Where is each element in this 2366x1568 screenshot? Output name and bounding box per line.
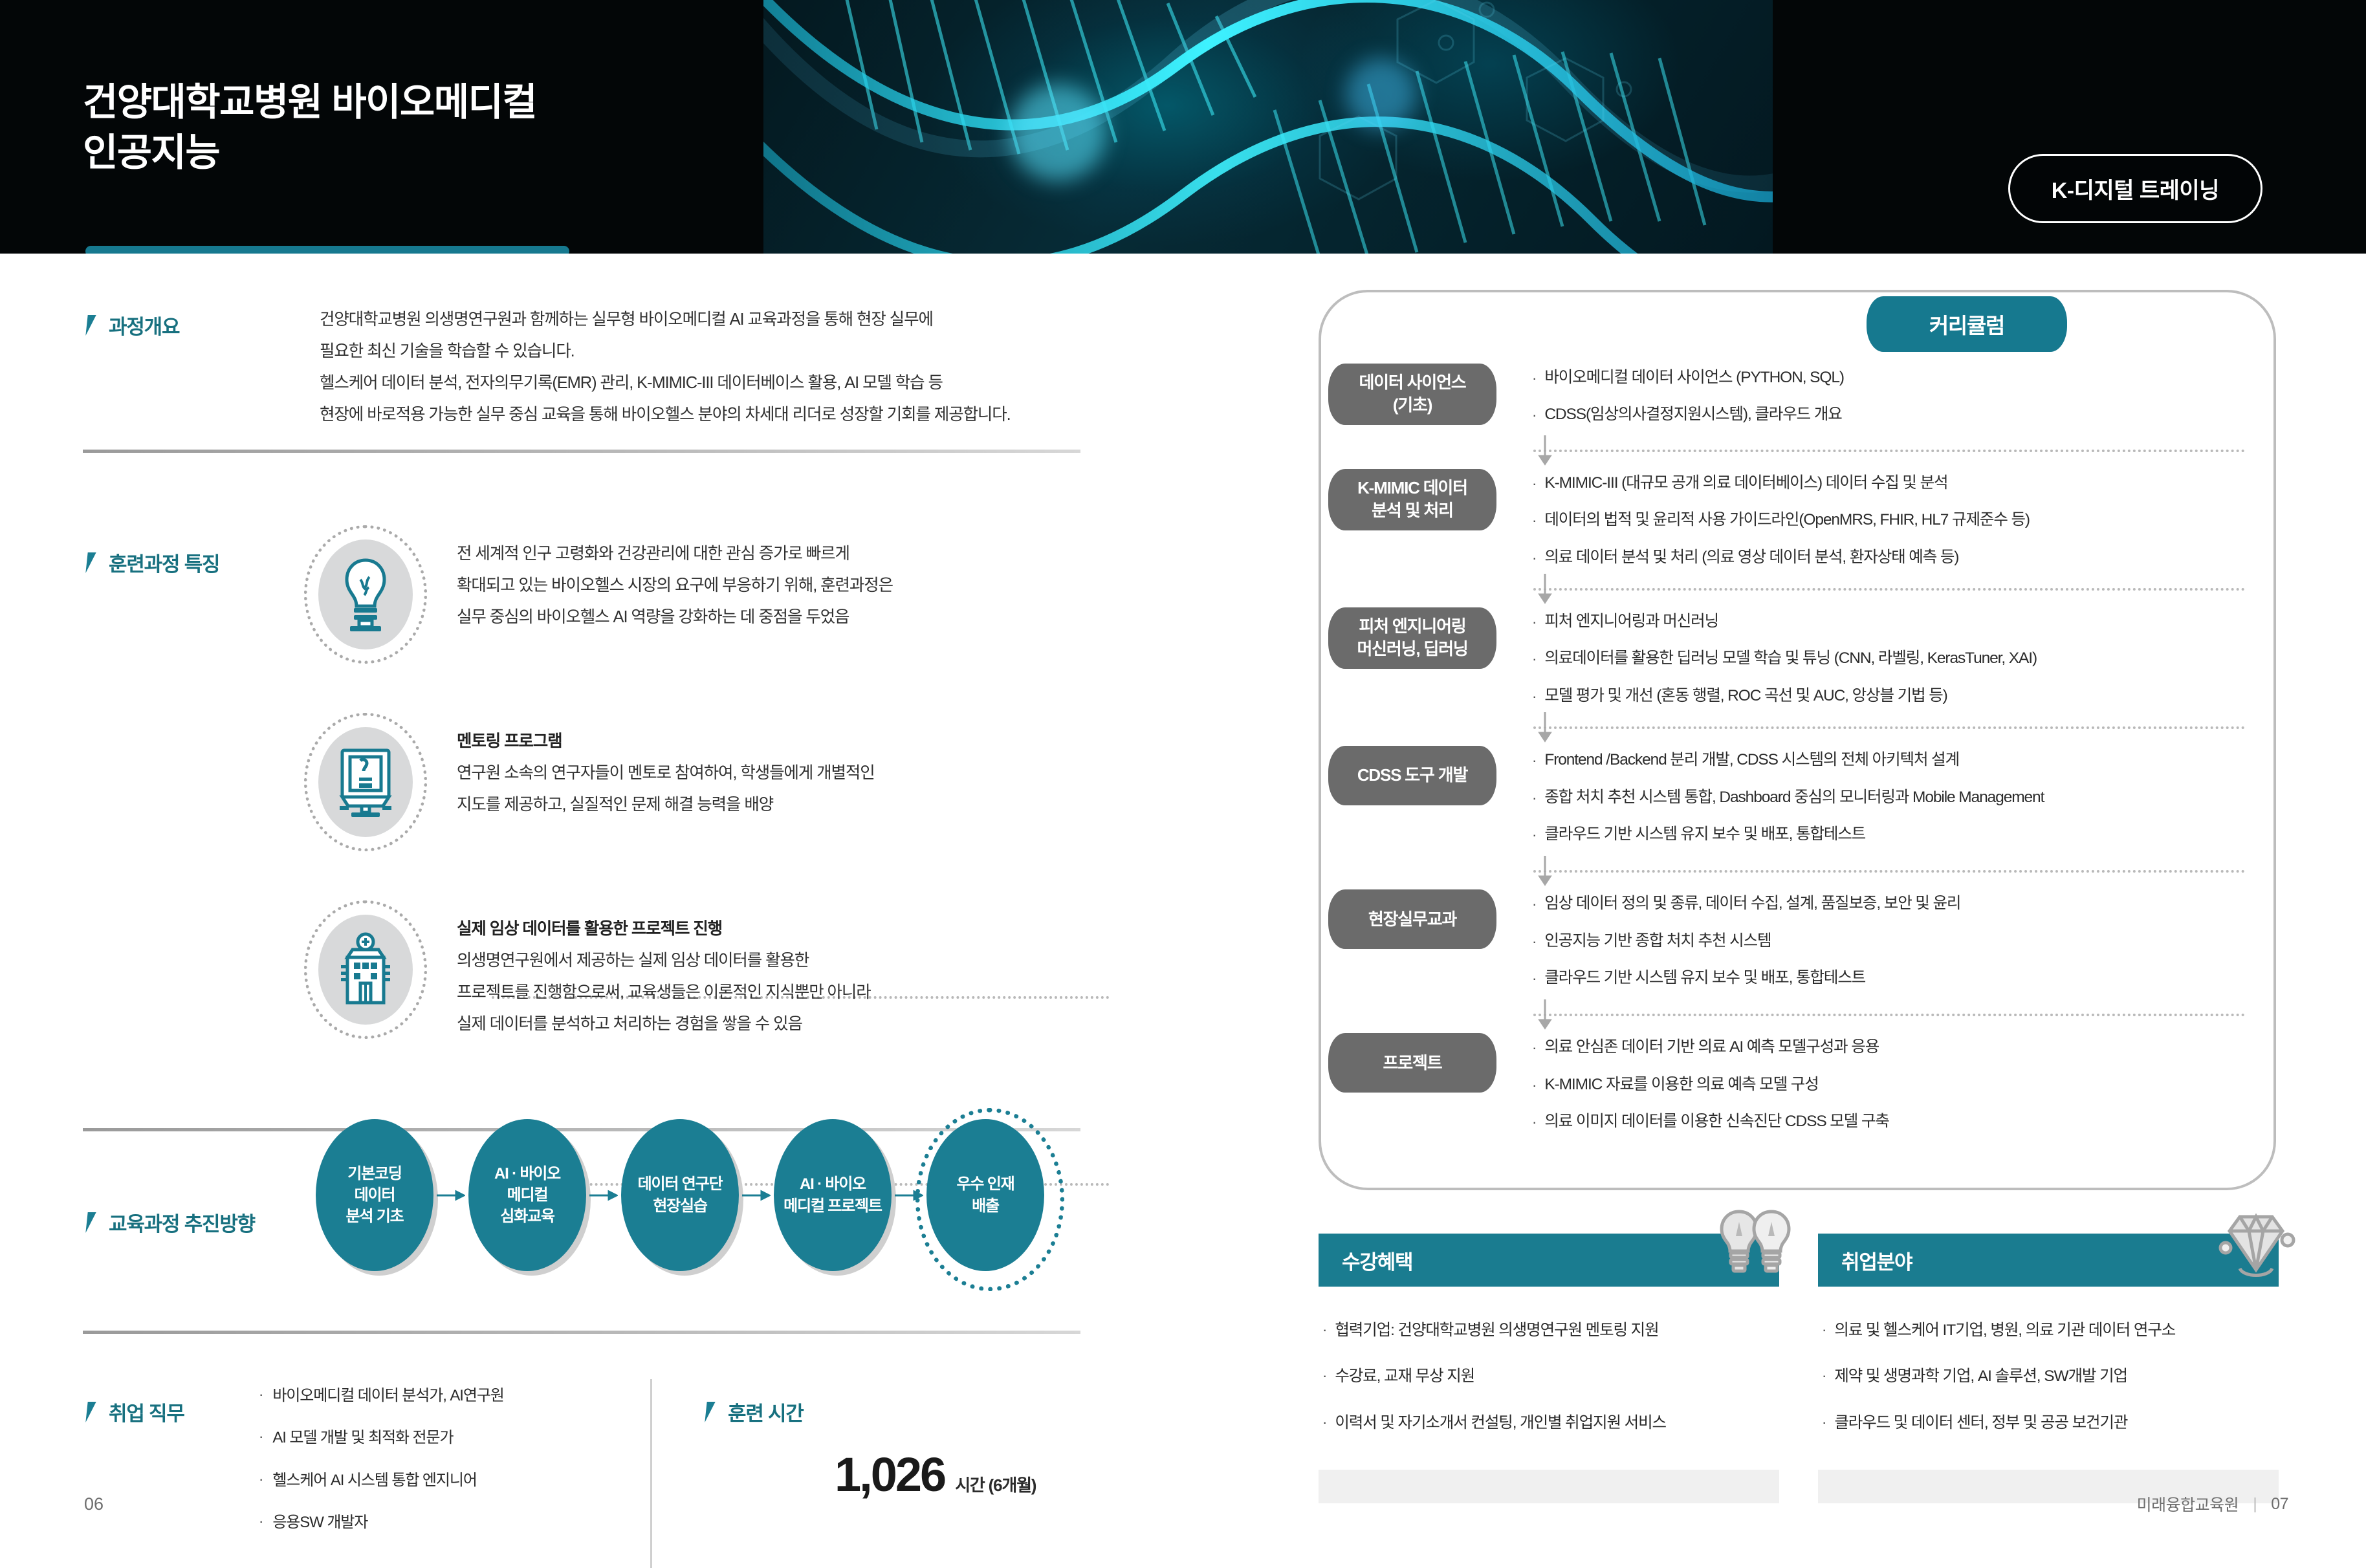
list-item: ·데이터의 법적 및 윤리적 사용 가이드라인(OpenMRS, FHIR, H… [1532,508,2276,532]
hours-heading-label: 훈련 시간 [728,1397,804,1426]
section-marker-icon [83,1399,100,1425]
overview-line: 현장에 바로적용 가능한 실무 중심 교육을 통해 바이오헬스 분야의 차세대 … [320,399,1115,431]
list-item: ·의료 데이터 분석 및 처리 (의료 영상 데이터 분석, 환자상태 예측 등… [1532,546,2276,570]
curriculum-items: ·Frontend /Backend 분리 개발, CDSS 시스템의 전체 아… [1506,746,2276,860]
node-line: K-MIMIC 데이터 [1357,477,1467,499]
flow-arrow-icon [1537,712,1553,746]
list-item: ·응용SW 개발자 [259,1509,634,1533]
title-line-1: 건양대학교병원 바이오메디컬 [83,78,536,128]
title-line-2: 인공지능 [83,128,536,179]
curriculum-node-col: 피처 엔지니어링 머신러닝, 딥러닝 [1319,607,1506,669]
benefit-card-header: 수강혜택 [1319,1234,1779,1287]
flow-arrow-icon [586,1189,621,1202]
feature-title: 멘토링 프로그램 [457,726,875,757]
benefit-card-body: ·협력기업: 건양대학교병원 의생명연구원 멘토링 지원 ·수강료, 교재 무상… [1319,1287,1779,1434]
curriculum-node: 데이터 사이언스 (기초) [1328,364,1496,425]
list-item: ·바이오메디컬 데이터 사이언스 (PYTHON, SQL) [1532,366,2276,390]
bullet-icon: · [1532,930,1537,953]
bullet-icon: · [1532,892,1537,916]
field-item-label: 제약 및 생명과학 기업, AI 솔루션, SW개발 기업 [1834,1364,2127,1388]
list-item: ·클라우드 기반 시스템 유지 보수 및 배포, 통합테스트 [1532,966,2276,990]
field-card-header: 취업분야 [1818,1234,2279,1287]
bullet-icon: · [1532,823,1537,847]
bullet-icon: · [1532,748,1537,772]
list-item: ·임상 데이터 정의 및 종류, 데이터 수집, 설계, 품질보증, 보안 및 … [1532,892,2276,916]
field-card-body: ·의료 및 헬스케어 IT기업, 병원, 의료 기관 데이터 연구소 ·제약 및… [1818,1287,2279,1434]
field-card-title: 취업분야 [1841,1246,1912,1275]
curriculum-item-label: 피처 엔지니어링과 머신러닝 [1544,610,1718,634]
feature-item: 실제 임상 데이터를 활용한 프로젝트 진행 의생명연구원에서 제공하는 실제 … [304,908,1113,1040]
curriculum-node: 프로젝트 [1328,1033,1496,1093]
list-item: ·의료 이미지 데이터를 이용한 신속진단 CDSS 모델 구축 [1532,1110,2276,1134]
feature-text: 전 세계적 인구 고령화와 건강관리에 대한 관심 증가로 빠르게 확대되고 있… [457,533,893,633]
bullet-icon: · [1532,366,1537,390]
feature-line: 연구원 소속의 연구자들이 멘토로 참여하여, 학생들에게 개별적인 [457,757,875,789]
list-item: ·의료 및 헬스케어 IT기업, 병원, 의료 기관 데이터 연구소 [1822,1318,2279,1342]
node-line: 분석 및 처리 [1357,499,1467,522]
overview-heading-label: 과정개요 [109,310,179,340]
curriculum-node-col: 데이터 사이언스 (기초) [1319,364,1506,425]
kdt-badge: K-디지털 트레이닝 [2008,154,2262,223]
feature-item: 멘토링 프로그램 연구원 소속의 연구자들이 멘토로 참여하여, 학생들에게 개… [304,721,1113,844]
bullet-icon: · [259,1424,263,1448]
bullet-icon: · [1532,508,1537,532]
feature-item: 전 세계적 인구 고령화와 건강관리에 대한 관심 증가로 빠르게 확대되고 있… [304,533,1113,656]
flow-step: 데이터 연구단 현장실습 [621,1119,739,1271]
bullet-icon: · [259,1509,263,1533]
curriculum-item-label: 의료 데이터 분석 및 처리 (의료 영상 데이터 분석, 환자상태 예측 등) [1544,546,1958,570]
curriculum-items: ·피처 엔지니어링과 머신러닝 ·의료데이터를 활용한 딥러닝 모델 학습 및 … [1506,607,2276,721]
list-item: ·인공지능 기반 종합 처치 추천 시스템 [1532,930,2276,953]
flow-step-line: 현장실습 [653,1195,707,1217]
flow-step-line: 데이터 [355,1184,395,1206]
list-item: ·K-MIMIC-III (대규모 공개 의료 데이터베이스) 데이터 수집 및… [1532,472,2276,495]
list-item: ·의료 안심존 데이터 기반 의료 AI 예측 모델구성과 응용 [1532,1036,2276,1060]
divider [83,1331,1080,1334]
node-line: 피처 엔지니어링 [1357,615,1467,638]
overview-line: 필요한 최신 기술을 학습할 수 있습니다. [320,336,1115,367]
flow-step-line: 배출 [972,1195,999,1217]
flow-step-line: AI · 바이오 [494,1163,560,1184]
curriculum-item-label: 임상 데이터 정의 및 종류, 데이터 수집, 설계, 품질보증, 보안 및 윤… [1544,892,1960,916]
diamond-icon [2210,1197,2302,1289]
divider [83,450,1080,453]
curriculum-item-label: K-MIMIC-III (대규모 공개 의료 데이터베이스) 데이터 수집 및 … [1544,472,1947,495]
flow-arrow-icon [1537,435,1553,469]
benefit-item-label: 수강료, 교재 무상 지원 [1335,1364,1474,1388]
bullet-icon: · [1532,403,1537,427]
list-item: ·모델 평가 및 개선 (혼동 행렬, ROC 곡선 및 AUC, 앙상블 기법… [1532,684,2276,708]
curriculum-row: CDSS 도구 개발 ·Frontend /Backend 분리 개발, CDS… [1319,746,2276,860]
curriculum-item-label: 의료 안심존 데이터 기반 의료 AI 예측 모델구성과 응용 [1544,1036,1879,1060]
page-footer-right: 미래융합교육원 | 07 [2137,1492,2288,1516]
feature-title: 실제 임상 데이터를 활용한 프로젝트 진행 [457,913,871,945]
jobs-heading-label: 취업 직무 [109,1397,184,1426]
flow-step-line: 메디컬 [507,1184,548,1206]
job-label: AI 모델 개발 및 최적화 전문가 [272,1424,453,1448]
section-jobs-heading: 취업 직무 [83,1397,184,1426]
overview-line: 건양대학교병원 의생명연구원과 함께하는 실무형 바이오메디컬 AI 교육과정을… [320,304,1115,336]
page-title: 건양대학교병원 바이오메디컬 인공지능 [83,78,536,179]
job-label: 헬스케어 AI 시스템 통합 엔지니어 [272,1467,477,1491]
feature-line: 실제 데이터를 분석하고 처리하는 경험을 쌓을 수 있음 [457,1008,871,1040]
bullet-icon: · [1532,546,1537,570]
curriculum-row: 데이터 사이언스 (기초) ·바이오메디컬 데이터 사이언스 (PYTHON, … [1319,364,2276,441]
bullet-icon: · [1532,610,1537,634]
bullet-icon: · [1532,1073,1537,1097]
curriculum-rows: 데이터 사이언스 (기초) ·바이오메디컬 데이터 사이언스 (PYTHON, … [1319,364,2276,1148]
section-marker-icon [83,312,100,338]
curriculum-tab-label: 커리큘럼 [1867,296,2067,352]
list-item: ·의료데이터를 활용한 딥러닝 모델 학습 및 튜닝 (CNN, 라벨링, Ke… [1532,647,2276,671]
bullet-icon: · [1532,966,1537,990]
node-line: 현장실무교과 [1368,908,1456,931]
list-item: ·AI 모델 개발 및 최적화 전문가 [259,1424,634,1448]
curriculum-item-label: 의료데이터를 활용한 딥러닝 모델 학습 및 튜닝 (CNN, 라벨링, Ker… [1544,647,2037,671]
section-marker-icon [83,550,100,576]
section-direction-heading: 교육과정 추진방향 [83,1208,255,1237]
curriculum-node-col: K-MIMIC 데이터 분석 및 처리 [1319,469,1506,530]
field-item-label: 클라우드 및 데이터 센터, 정부 및 공공 보건기관 [1834,1410,2127,1434]
curriculum-row: 프로젝트 ·의료 안심존 데이터 기반 의료 AI 예측 모델구성과 응용 ·K… [1319,1033,2276,1147]
flow-arrow-icon [1537,999,1553,1033]
section-marker-icon [702,1399,719,1425]
hours-value-group: 1,026 시간 (6개월) [835,1447,1036,1502]
bullet-icon: · [259,1467,263,1491]
feature-text: 실제 임상 데이터를 활용한 프로젝트 진행 의생명연구원에서 제공하는 실제 … [457,908,871,1040]
node-line: 머신러닝, 딥러닝 [1357,638,1467,660]
curriculum-item-label: K-MIMIC 자료를 이용한 의료 예측 모델 구성 [1544,1073,1818,1097]
node-line: (기초) [1359,394,1465,417]
job-label: 응용SW 개발자 [272,1509,367,1533]
feature-text: 멘토링 프로그램 연구원 소속의 연구자들이 멘토로 참여하여, 학생들에게 개… [457,721,875,821]
curriculum-item-label: Frontend /Backend 분리 개발, CDSS 시스템의 전체 아키… [1544,748,1959,772]
curriculum-row: 현장실무교과 ·임상 데이터 정의 및 종류, 데이터 수집, 설계, 품질보증… [1319,889,2276,1003]
curriculum-node-col: 프로젝트 [1319,1033,1506,1093]
node-line: CDSS 도구 개발 [1357,764,1467,787]
curriculum-items: ·바이오메디컬 데이터 사이언스 (PYTHON, SQL) ·CDSS(임상의… [1506,364,2276,441]
jobs-list: ·바이오메디컬 데이터 분석가, AI연구원 ·AI 모델 개발 및 최적화 전… [259,1382,634,1552]
list-item: ·이력서 및 자기소개서 컨설팅, 개인별 취업지원 서비스 [1322,1410,1779,1434]
feature-line: 확대되고 있는 바이오헬스 시장의 요구에 부응하기 위해, 훈련과정은 [457,570,893,602]
benefit-item-label: 이력서 및 자기소개서 컨설팅, 개인별 취업지원 서비스 [1335,1410,1666,1434]
curriculum-node-col: CDSS 도구 개발 [1319,746,1506,805]
benefit-item-label: 협력기업: 건양대학교병원 의생명연구원 멘토링 지원 [1335,1318,1658,1342]
footer-org-label: 미래융합교육원 [2137,1492,2239,1516]
bullet-icon: · [1322,1410,1327,1434]
footer-divider: | [2253,1495,2257,1514]
flow-step: AI · 바이오 메디컬 심화교육 [468,1119,586,1271]
flow-step-line: 기본코딩 [347,1163,402,1184]
flow-step-line: 메디컬 프로젝트 [783,1195,882,1217]
bullet-icon: · [1822,1318,1826,1342]
flow-step-line: 우수 인재 [957,1173,1014,1195]
bullet-icon: · [1322,1364,1327,1388]
page-header: 건양대학교병원 바이오메디컬 인공지능 K-디지털 트레이닝 [0,0,2366,254]
curriculum-item-label: 인공지능 기반 종합 처치 추천 시스템 [1544,930,1771,953]
flow-step-line: 심화교육 [500,1206,554,1227]
hours-number: 1,026 [835,1447,945,1502]
features-heading-label: 훈련과정 특징 [109,548,219,577]
benefit-card-footer-bar [1319,1470,1779,1503]
bullet-icon: · [1532,647,1537,671]
node-line: 프로젝트 [1383,1052,1442,1074]
flow-step-line: 분석 기초 [346,1206,404,1227]
curriculum-item-label: 모델 평가 및 개선 (혼동 행렬, ROC 곡선 및 AUC, 앙상블 기법 … [1544,684,1947,708]
section-features-heading: 훈련과정 특징 [83,548,219,577]
overview-text-block: 건양대학교병원 의생명연구원과 함께하는 실무형 바이오메디컬 AI 교육과정을… [320,304,1115,431]
field-card: 취업분야 ·의료 및 헬스케어 IT기업, 병원, 의료 기관 데이터 연구소 … [1818,1234,2279,1456]
flow-arrow-icon [1537,574,1553,607]
monitor-mentoring-icon [304,721,427,844]
two-lightbulbs-icon [1711,1197,1802,1289]
flow-step: AI · 바이오 메디컬 프로젝트 [774,1119,892,1271]
section-marker-icon [83,1210,100,1236]
curriculum-item-label: CDSS(임상의사결정지원시스템), 클라우드 개요 [1544,403,1841,427]
curriculum-items: ·임상 데이터 정의 및 종류, 데이터 수집, 설계, 품질보증, 보안 및 … [1506,889,2276,1003]
flow-step: 우수 인재 배출 [926,1119,1044,1271]
brochure-spread: 건양대학교병원 바이오메디컬 인공지능 K-디지털 트레이닝 과정개요 건양대학… [0,0,2366,1568]
list-item: ·클라우드 기반 시스템 유지 보수 및 배포, 통합테스트 [1532,823,2276,847]
flow-arrow-icon [739,1189,774,1202]
curriculum-item-label: 종합 처치 추천 시스템 통합, Dashboard 중심의 모니터링과 Mob… [1544,786,2044,810]
bullet-icon: · [1322,1318,1327,1342]
list-item: ·CDSS(임상의사결정지원시스템), 클라우드 개요 [1532,403,2276,427]
curriculum-row: 피처 엔지니어링 머신러닝, 딥러닝 ·피처 엔지니어링과 머신러닝 ·의료데이… [1319,607,2276,721]
curriculum-node: 피처 엔지니어링 머신러닝, 딥러닝 [1328,607,1496,669]
hours-unit-label: 시간 (6개월) [955,1472,1036,1496]
node-line: 데이터 사이언스 [1359,371,1465,394]
page-number-left: 06 [84,1494,104,1514]
curriculum-node: CDSS 도구 개발 [1328,746,1496,805]
list-item: ·헬스케어 AI 시스템 통합 엔지니어 [259,1467,634,1491]
curriculum-row: K-MIMIC 데이터 분석 및 처리 ·K-MIMIC-III (대규모 공개… [1319,469,2276,583]
list-item: ·Frontend /Backend 분리 개발, CDSS 시스템의 전체 아… [1532,748,2276,772]
list-item: ·클라우드 및 데이터 센터, 정부 및 공공 보건기관 [1822,1410,2279,1434]
list-item: ·협력기업: 건양대학교병원 의생명연구원 멘토링 지원 [1322,1318,1779,1342]
title-accent-bar [85,246,569,254]
curriculum-item-label: 바이오메디컬 데이터 사이언스 (PYTHON, SQL) [1544,366,1844,390]
field-item-label: 의료 및 헬스케어 IT기업, 병원, 의료 기관 데이터 연구소 [1834,1318,2175,1342]
direction-flow: 기본코딩 데이터 분석 기초 AI · 바이오 메디컬 심화교육 데이터 연구단… [316,1119,1044,1271]
list-item: ·제약 및 생명과학 기업, AI 솔루션, SW개발 기업 [1822,1364,2279,1388]
lightbulb-icon [304,533,427,656]
right-page: 커리큘럼 데이터 사이언스 (기초) ·바이오메디컬 데이터 사이언스 (PYT… [1184,254,2366,1568]
bullet-icon: · [1822,1410,1826,1434]
list-item: ·수강료, 교재 무상 지원 [1322,1364,1779,1388]
feature-line: 프로젝트를 진행함으로써, 교육생들은 이론적인 지식뿐만 아니라 [457,977,871,1008]
dna-helix-graphic [763,0,1773,254]
feature-line: 전 세계적 인구 고령화와 건강관리에 대한 관심 증가로 빠르게 [457,538,893,570]
bullet-icon: · [1532,1036,1537,1060]
list-item: ·피처 엔지니어링과 머신러닝 [1532,610,2276,634]
list-item: ·종합 처치 추천 시스템 통합, Dashboard 중심의 모니터링과 Mo… [1532,786,2276,810]
bullet-icon: · [1532,1110,1537,1134]
feature-line: 의생명연구원에서 제공하는 실제 임상 데이터를 활용한 [457,945,871,977]
benefit-card-title: 수강혜택 [1342,1246,1412,1275]
curriculum-node-col: 현장실무교과 [1319,889,1506,949]
overview-line: 헬스케어 데이터 분석, 전자의무기록(EMR) 관리, K-MIMIC-III… [320,367,1115,399]
flow-step-final-ring: 우수 인재 배출 [926,1119,1044,1271]
curriculum-node: K-MIMIC 데이터 분석 및 처리 [1328,469,1496,530]
section-overview-heading: 과정개요 [83,310,179,340]
curriculum-item-label: 의료 이미지 데이터를 이용한 신속진단 CDSS 모델 구축 [1544,1110,1889,1134]
flow-arrow-icon [1537,856,1553,889]
vertical-divider [650,1379,652,1568]
curriculum-items: ·의료 안심존 데이터 기반 의료 AI 예측 모델구성과 응용 ·K-MIMI… [1506,1033,2276,1147]
list-item: ·바이오메디컬 데이터 분석가, AI연구원 [259,1382,634,1406]
curriculum-item-label: 클라우드 기반 시스템 유지 보수 및 배포, 통합테스트 [1544,966,1865,990]
direction-heading-label: 교육과정 추진방향 [109,1208,255,1237]
flow-step-line: 데이터 연구단 [638,1173,723,1195]
section-hours-heading: 훈련 시간 [702,1397,804,1426]
curriculum-items: ·K-MIMIC-III (대규모 공개 의료 데이터베이스) 데이터 수집 및… [1506,469,2276,583]
left-page: 과정개요 건양대학교병원 의생명연구원과 함께하는 실무형 바이오메디컬 AI … [0,254,1184,1568]
bullet-icon: · [1532,684,1537,708]
job-label: 바이오메디컬 데이터 분석가, AI연구원 [272,1382,503,1406]
flow-arrow-icon [433,1189,468,1202]
page-number-right: 07 [2271,1495,2288,1514]
benefit-card: 수강혜택 [1319,1234,1779,1456]
bullet-icon: · [1532,786,1537,810]
curriculum-item-label: 데이터의 법적 및 윤리적 사용 가이드라인(OpenMRS, FHIR, HL… [1544,508,2030,532]
feature-line: 실무 중심의 바이오헬스 AI 역량을 강화하는 데 중점을 두었음 [457,602,893,633]
hospital-icon [304,908,427,1031]
flow-step-line: AI · 바이오 [800,1173,866,1195]
feature-line: 지도를 제공하고, 실질적인 문제 해결 능력을 배양 [457,789,875,821]
bullet-icon: · [259,1382,263,1406]
flow-step: 기본코딩 데이터 분석 기초 [316,1119,433,1271]
curriculum-node: 현장실무교과 [1328,889,1496,949]
bullet-icon: · [1532,472,1537,495]
curriculum-item-label: 클라우드 기반 시스템 유지 보수 및 배포, 통합테스트 [1544,823,1865,847]
list-item: ·K-MIMIC 자료를 이용한 의료 예측 모델 구성 [1532,1073,2276,1097]
bullet-icon: · [1822,1364,1826,1388]
